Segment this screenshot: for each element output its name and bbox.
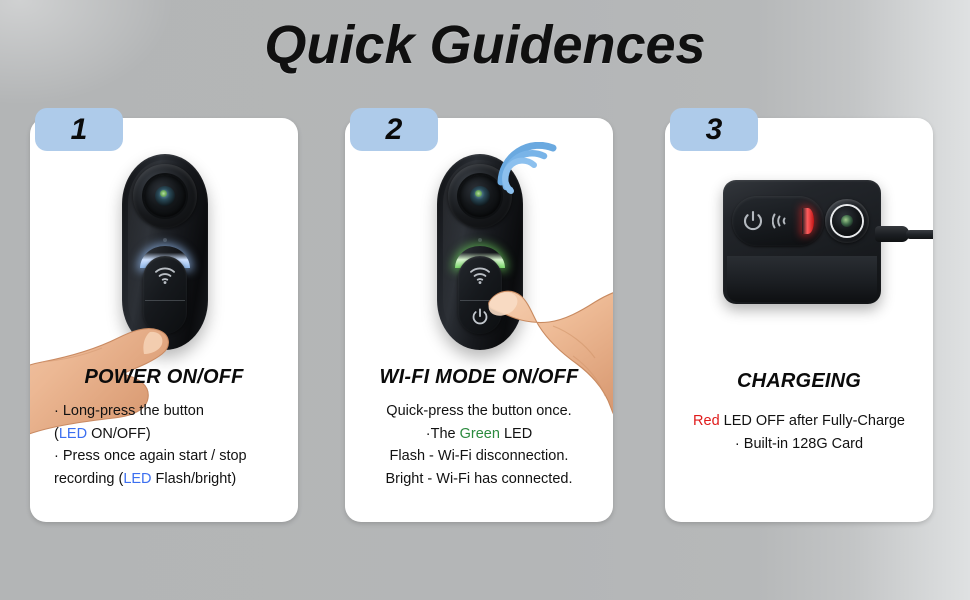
text-segment: Flash/bright) xyxy=(152,471,237,487)
card-3-body: Red LED OFF after Fully-Charge · Built-i… xyxy=(673,410,925,455)
page-background: Quick Guidences xyxy=(0,0,970,600)
card-2-body: Quick-press the button once. ·The Green … xyxy=(353,400,605,490)
guidance-card-1: POWER ON/OFF · Long-press the button (LE… xyxy=(30,118,298,522)
card-2-line-1: Quick-press the button once. xyxy=(353,400,605,423)
step-badge-1: 1 xyxy=(35,108,123,151)
camera-lens-ring xyxy=(133,164,197,228)
power-glyph-icon xyxy=(742,210,764,232)
card-1-line-2: (LED ON/OFF) xyxy=(38,423,290,446)
text-segment: ON/OFF) xyxy=(87,426,151,442)
step-number: 2 xyxy=(386,115,403,145)
device-back-clip xyxy=(727,256,877,302)
camera-device-horizontal xyxy=(723,180,881,304)
text-segment: Quick-press the button once. xyxy=(386,403,571,419)
card-2-artwork xyxy=(345,118,613,386)
guidance-card-3: CHARGEING Red LED OFF after Fully-Charge… xyxy=(665,118,933,522)
device-control-face xyxy=(732,196,824,246)
text-segment: LED xyxy=(500,426,532,442)
usb-cable-wire xyxy=(906,230,933,239)
card-1-line-1: · Long-press the button xyxy=(38,400,290,423)
card-1-line-3: · Press once again start / stop xyxy=(38,445,290,468)
card-3-line-1: Red LED OFF after Fully-Charge xyxy=(673,410,925,433)
led-indicator-red xyxy=(802,208,814,234)
green-highlight: Green xyxy=(460,426,500,442)
page-title: Quick Guidences xyxy=(0,14,970,76)
text-segment: Flash - Wi-Fi disconnection. xyxy=(390,448,569,464)
card-2-clip: WI-FI MODE ON/OFF Quick-press the button… xyxy=(345,118,613,522)
card-1-line-4: recording (LED Flash/bright) xyxy=(38,468,290,491)
step-number: 3 xyxy=(706,115,723,145)
camera-lens xyxy=(144,175,186,217)
wifi-glyph-icon xyxy=(772,212,794,230)
card-3-heading: CHARGEING xyxy=(665,370,933,393)
card-3-line-2: · Built-in 128G Card xyxy=(673,433,925,456)
card-2-line-3: Flash - Wi-Fi disconnection. xyxy=(353,445,605,468)
guidance-card-2: WI-FI MODE ON/OFF Quick-press the button… xyxy=(345,118,613,522)
red-highlight: Red xyxy=(693,413,720,429)
card-1-heading: POWER ON/OFF xyxy=(30,366,298,389)
text-segment: Bright - Wi-Fi has connected. xyxy=(386,471,573,487)
step-badge-2: 2 xyxy=(350,108,438,151)
led-highlight: LED xyxy=(123,471,151,487)
microphone-dot xyxy=(163,238,167,242)
camera-lens xyxy=(459,175,501,217)
led-highlight: LED xyxy=(59,426,87,442)
text-segment: · Press once again start / stop xyxy=(54,448,247,464)
step-badge-3: 3 xyxy=(670,108,758,151)
usb-plug xyxy=(875,226,909,242)
wifi-signal-icon xyxy=(497,142,559,194)
card-1-artwork xyxy=(30,118,298,386)
card-3-clip: CHARGEING Red LED OFF after Fully-Charge… xyxy=(665,118,933,522)
step-number: 1 xyxy=(71,115,88,145)
card-1-clip: POWER ON/OFF · Long-press the button (LE… xyxy=(30,118,298,522)
text-segment: LED OFF after Fully-Charge xyxy=(720,413,905,429)
text-segment: · Long-press the button xyxy=(54,403,204,419)
card-2-heading: WI-FI MODE ON/OFF xyxy=(345,366,613,389)
usb-charging-cable xyxy=(875,226,933,242)
card-2-line-4: Bright - Wi-Fi has connected. xyxy=(353,468,605,491)
camera-lens-ring xyxy=(825,199,869,243)
text-segment: recording ( xyxy=(54,471,123,487)
hand-pointing-icon xyxy=(453,226,613,426)
card-1-body: · Long-press the button (LED ON/OFF) · P… xyxy=(38,400,290,490)
card-3-artwork xyxy=(665,118,933,386)
guidance-cards: POWER ON/OFF · Long-press the button (LE… xyxy=(0,118,970,528)
text-segment: ·The xyxy=(426,426,460,442)
camera-lens xyxy=(832,206,862,236)
text-segment: · Built-in 128G Card xyxy=(735,436,863,452)
card-2-line-2: ·The Green LED xyxy=(353,423,605,446)
